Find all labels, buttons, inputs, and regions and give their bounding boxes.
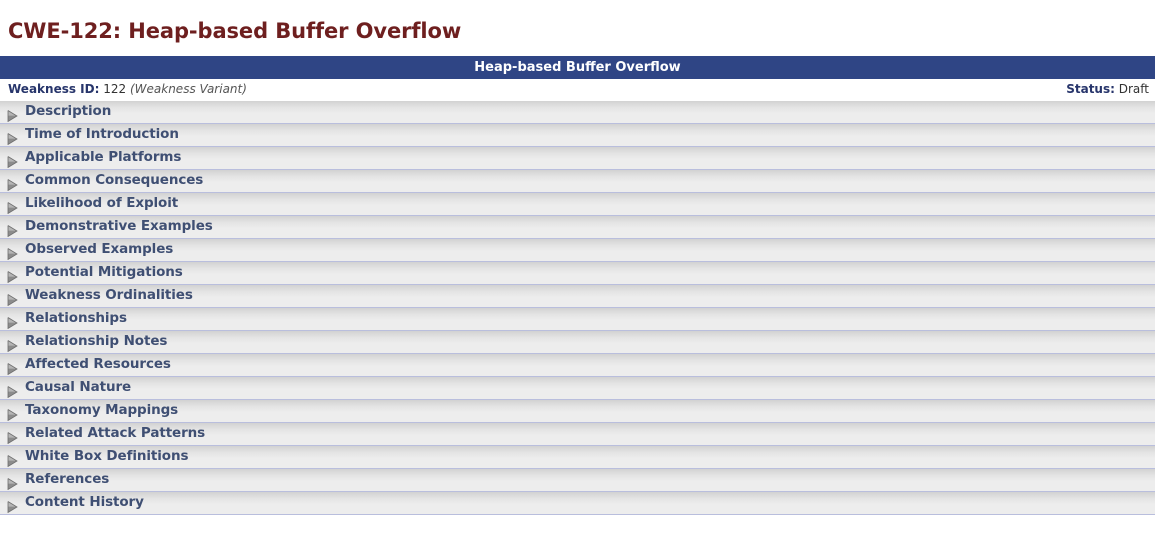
weakness-id-block: Weakness ID: 122 (Weakness Variant) <box>8 79 247 100</box>
status-label: Status: <box>1066 82 1115 96</box>
accordion-section-observed-examples[interactable]: Observed Examples <box>0 239 1155 262</box>
chevron-right-icon <box>7 451 18 463</box>
entry-metadata-row: Weakness ID: 122 (Weakness Variant) Stat… <box>0 79 1155 100</box>
accordion-section-white-box-definitions[interactable]: White Box Definitions <box>0 446 1155 469</box>
accordion-section-content-history[interactable]: Content History <box>0 492 1155 515</box>
accordion-section-demonstrative-examples[interactable]: Demonstrative Examples <box>0 216 1155 239</box>
chevron-right-icon <box>7 405 18 417</box>
accordion-section-description[interactable]: Description <box>0 100 1155 124</box>
accordion-section-relationships[interactable]: Relationships <box>0 308 1155 331</box>
accordion-section-label: Observed Examples <box>25 243 173 258</box>
entry-content: Heap-based Buffer Overflow Weakness ID: … <box>0 56 1155 515</box>
accordion-section-label: Content History <box>25 496 144 511</box>
chevron-right-icon <box>7 244 18 256</box>
accordion-section-affected-resources[interactable]: Affected Resources <box>0 354 1155 377</box>
chevron-right-icon <box>7 428 18 440</box>
accordion-section-relationship-notes[interactable]: Relationship Notes <box>0 331 1155 354</box>
accordion-section-label: Description <box>25 105 111 120</box>
chevron-right-icon <box>7 175 18 187</box>
accordion-section-label: Common Consequences <box>25 174 203 189</box>
chevron-right-icon <box>7 198 18 210</box>
accordion-section-label: Causal Nature <box>25 381 131 396</box>
chevron-right-icon <box>7 129 18 141</box>
chevron-right-icon <box>7 336 18 348</box>
accordion-section-label: References <box>25 473 109 488</box>
accordion-section-taxonomy-mappings[interactable]: Taxonomy Mappings <box>0 400 1155 423</box>
section-accordion: Description Time of Introduction Applica… <box>0 100 1155 515</box>
accordion-section-label: Weakness Ordinalities <box>25 289 193 304</box>
accordion-section-potential-mitigations[interactable]: Potential Mitigations <box>0 262 1155 285</box>
accordion-section-weakness-ordinalities[interactable]: Weakness Ordinalities <box>0 285 1155 308</box>
chevron-right-icon <box>7 359 18 371</box>
accordion-section-label: Applicable Platforms <box>25 151 181 166</box>
status-block: Status: Draft <box>1066 79 1149 100</box>
accordion-section-label: Time of Introduction <box>25 128 179 143</box>
accordion-section-label: Related Attack Patterns <box>25 427 205 442</box>
accordion-section-related-attack-patterns[interactable]: Related Attack Patterns <box>0 423 1155 446</box>
chevron-right-icon <box>7 382 18 394</box>
accordion-section-label: Relationships <box>25 312 127 327</box>
accordion-section-references[interactable]: References <box>0 469 1155 492</box>
chevron-right-icon <box>7 221 18 233</box>
entry-header-title: Heap-based Buffer Overflow <box>0 56 1155 79</box>
chevron-right-icon <box>7 474 18 486</box>
accordion-section-label: White Box Definitions <box>25 450 188 465</box>
accordion-section-likelihood-of-exploit[interactable]: Likelihood of Exploit <box>0 193 1155 216</box>
accordion-section-common-consequences[interactable]: Common Consequences <box>0 170 1155 193</box>
accordion-section-label: Taxonomy Mappings <box>25 404 178 419</box>
accordion-section-label: Potential Mitigations <box>25 266 183 281</box>
chevron-right-icon <box>7 106 18 118</box>
accordion-section-label: Relationship Notes <box>25 335 167 350</box>
accordion-section-applicable-platforms[interactable]: Applicable Platforms <box>0 147 1155 170</box>
status-badge: Draft <box>1119 82 1149 96</box>
accordion-section-time-of-introduction[interactable]: Time of Introduction <box>0 124 1155 147</box>
chevron-right-icon <box>7 497 18 509</box>
accordion-section-label: Affected Resources <box>25 358 171 373</box>
chevron-right-icon <box>7 313 18 325</box>
chevron-right-icon <box>7 267 18 279</box>
chevron-right-icon <box>7 290 18 302</box>
page-title: CWE-122: Heap-based Buffer Overflow <box>0 14 1172 42</box>
accordion-section-label: Likelihood of Exploit <box>25 197 178 212</box>
weakness-id-label: Weakness ID: <box>8 82 99 96</box>
weakness-id-value: 122 <box>103 82 126 96</box>
chevron-right-icon <box>7 152 18 164</box>
weakness-abstraction: (Weakness Variant) <box>130 82 247 96</box>
accordion-section-label: Demonstrative Examples <box>25 220 213 235</box>
accordion-section-causal-nature[interactable]: Causal Nature <box>0 377 1155 400</box>
